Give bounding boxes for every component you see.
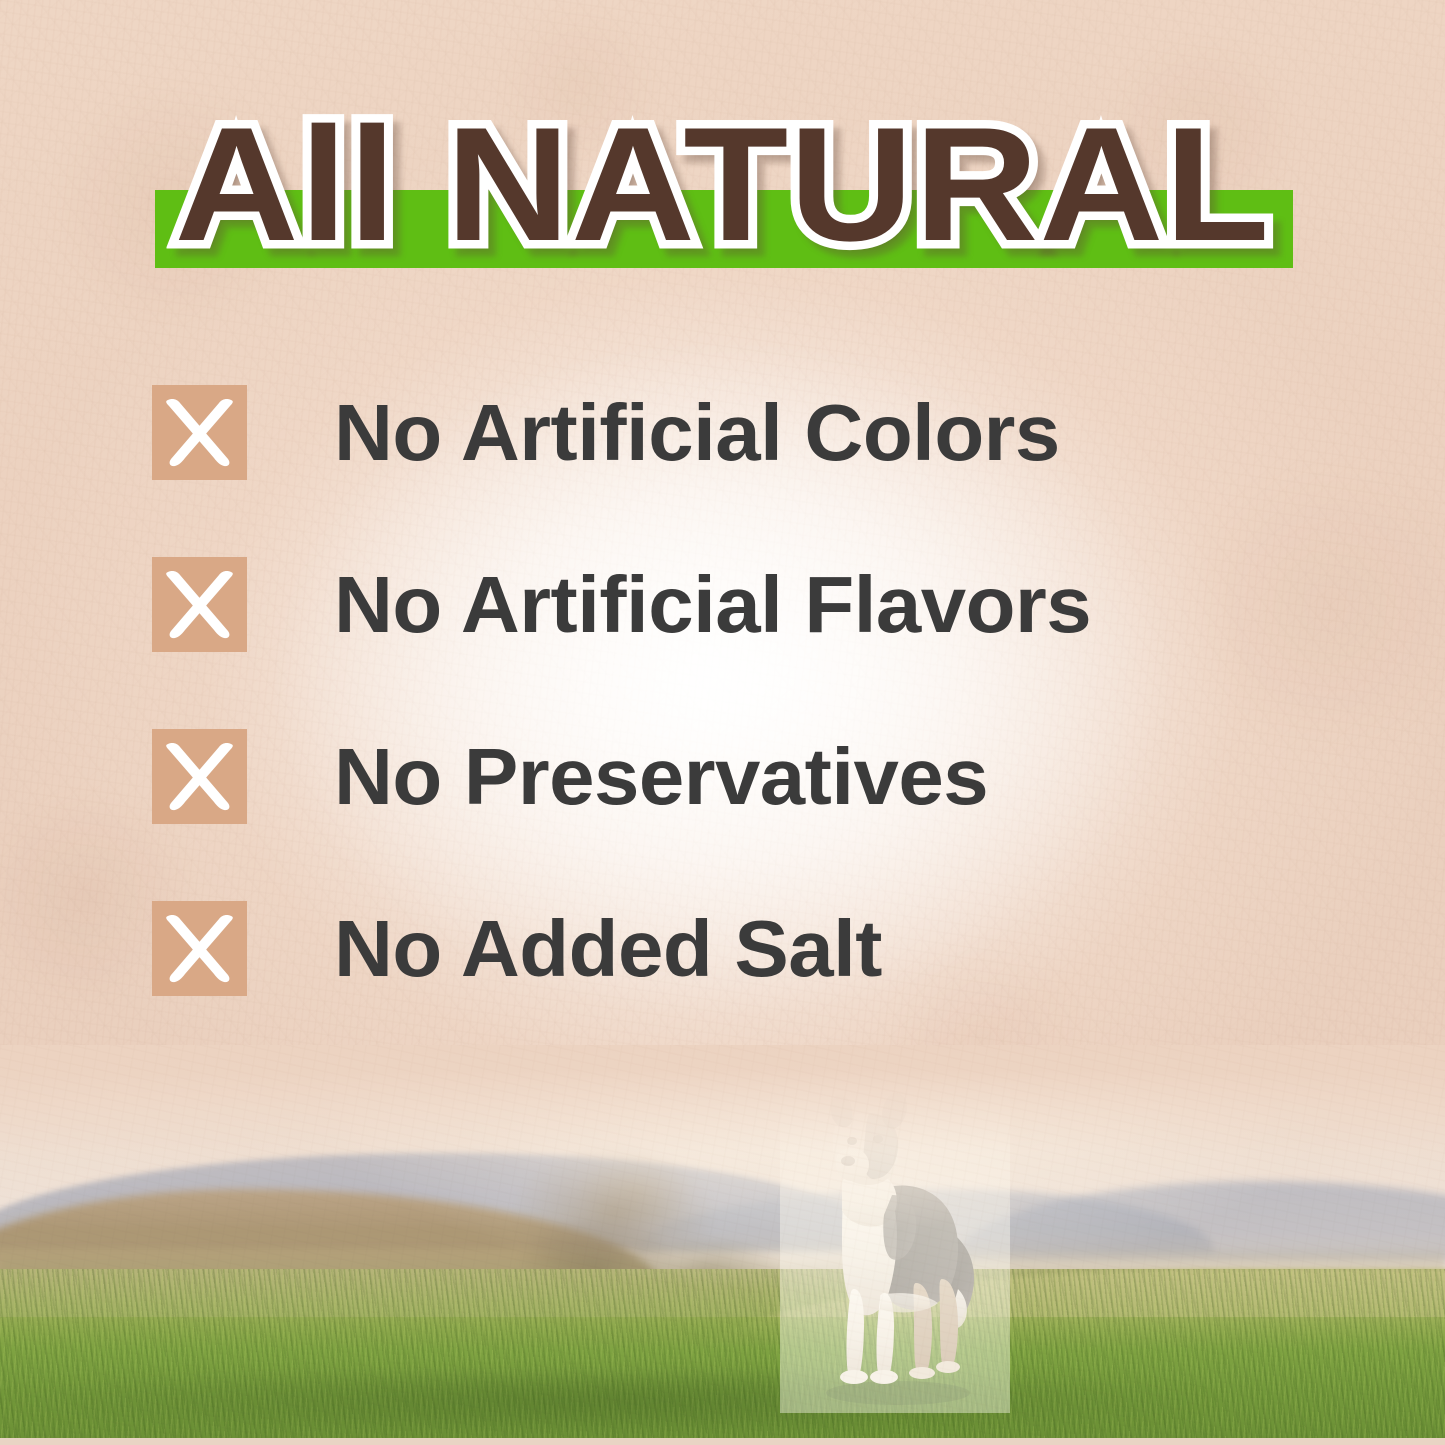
x-mark-icon: [152, 557, 247, 652]
bottom-edge-strip: [0, 1438, 1445, 1445]
claim-label: No Artificial Flavors: [334, 550, 1091, 660]
claim-row: No Artificial Colors: [152, 378, 1312, 550]
claim-label: No Added Salt: [334, 894, 882, 1004]
meadow-shadow: [0, 1373, 1445, 1429]
claim-row: No Artificial Flavors: [152, 550, 1312, 722]
x-mark-icon: [152, 729, 247, 824]
headline-fill-layer: All NATURAL: [0, 110, 1445, 260]
claim-row: No Preservatives: [152, 722, 1312, 894]
headline-banner: All NATURAL All NATURAL All NATURAL: [0, 0, 1445, 300]
claims-list: No Artificial Colors No Artificial Flavo…: [152, 378, 1312, 1066]
x-mark-icon: [152, 901, 247, 996]
dog-photo: [780, 1083, 1010, 1413]
claim-row: No Added Salt: [152, 894, 1312, 1066]
x-mark-icon: [152, 385, 247, 480]
all-natural-poster: All NATURAL All NATURAL All NATURAL No A…: [0, 0, 1445, 1445]
landscape-photo: [0, 1045, 1445, 1445]
claim-label: No Artificial Colors: [334, 378, 1060, 488]
claim-label: No Preservatives: [334, 722, 988, 832]
